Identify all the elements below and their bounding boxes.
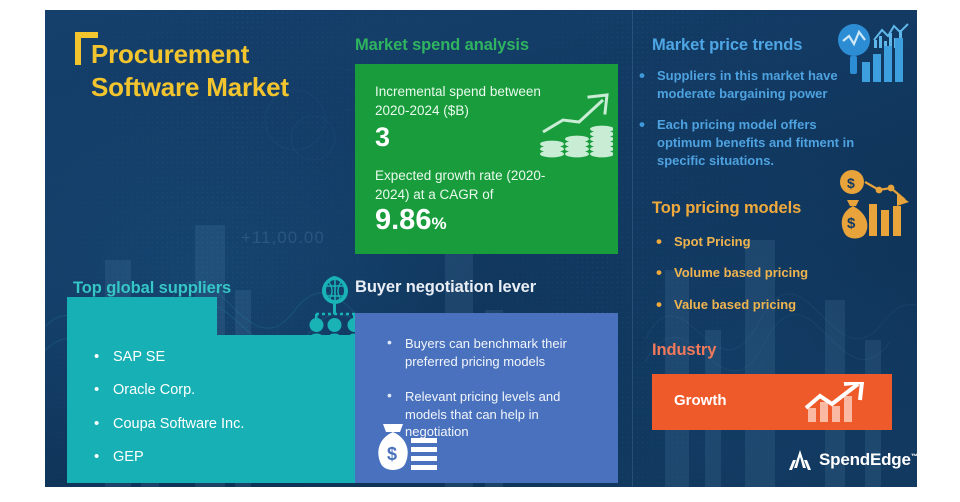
cagr-label: Expected growth rate (2020-2024) at a CA… bbox=[375, 166, 570, 204]
suppliers-heading: Top global suppliers bbox=[73, 279, 231, 298]
list-item: Oracle Corp. bbox=[91, 382, 341, 399]
list-item: Each pricing model offers optimum benefi… bbox=[635, 116, 860, 170]
logo-trademark: ™ bbox=[911, 453, 917, 460]
cagr-percent-sign: % bbox=[431, 214, 446, 233]
list-item: Coupa Software Inc. bbox=[91, 416, 341, 433]
coin-stack-growth-icon bbox=[537, 92, 613, 170]
growth-arrow-chart-icon bbox=[802, 382, 882, 424]
incremental-spend-value: 3 bbox=[375, 122, 390, 153]
suppliers-card: SAP SE Oracle Corp. Coupa Software Inc. … bbox=[67, 335, 356, 483]
pricing-decline-icon: $ $ bbox=[835, 168, 915, 240]
spendedge-logo: SpendEdge™ bbox=[788, 448, 917, 472]
money-bag-icon: $ bbox=[373, 418, 439, 476]
list-item: Buyers can benchmark their preferred pri… bbox=[383, 335, 601, 370]
pricing-heading: Top pricing models bbox=[652, 199, 801, 218]
column-divider bbox=[632, 10, 633, 487]
list-item: Volume based pricing bbox=[652, 265, 867, 281]
trends-heading: Market price trends bbox=[652, 36, 802, 55]
page-title-line1: Procurement bbox=[91, 38, 391, 71]
svg-text:$: $ bbox=[847, 175, 855, 191]
negotiation-card: Buyers can benchmark their preferred pri… bbox=[355, 313, 618, 483]
list-item: GEP bbox=[91, 449, 341, 466]
suppliers-card-pointer bbox=[67, 297, 217, 337]
spend-card: Incremental spend between 2020-2024 ($B)… bbox=[355, 64, 618, 254]
negotiation-heading: Buyer negotiation lever bbox=[355, 278, 536, 297]
status-badge: Growth bbox=[674, 392, 727, 409]
list-item: Suppliers in this market have moderate b… bbox=[635, 67, 860, 103]
pricing-list: Spot Pricing Volume based pricing Value … bbox=[652, 234, 867, 328]
list-item: SAP SE bbox=[91, 349, 341, 366]
list-item: Value based pricing bbox=[652, 297, 867, 313]
cagr-number: 9.86 bbox=[375, 204, 431, 236]
industry-growth-badge: Growth bbox=[652, 374, 892, 430]
logo-wordmark: SpendEdge bbox=[819, 450, 911, 469]
industry-heading: Industry bbox=[652, 341, 716, 360]
suppliers-list: SAP SE Oracle Corp. Coupa Software Inc. … bbox=[91, 349, 341, 483]
svg-text:$: $ bbox=[847, 215, 856, 232]
page-title-line2: Software Market bbox=[91, 71, 391, 104]
infographic-frame: +11,00.00 Procurement Software Market To… bbox=[45, 10, 917, 487]
spendedge-logo-text: SpendEdge™ bbox=[819, 450, 917, 470]
spend-heading: Market spend analysis bbox=[355, 36, 529, 55]
trends-list: Suppliers in this market have moderate b… bbox=[635, 67, 860, 183]
page-title: Procurement Software Market bbox=[91, 38, 391, 104]
cagr-value: 9.86% bbox=[375, 204, 447, 237]
list-item: Spot Pricing bbox=[652, 234, 867, 250]
svg-text:$: $ bbox=[387, 444, 397, 464]
background-watermark-number: +11,00.00 bbox=[241, 228, 325, 248]
spendedge-mark-icon bbox=[788, 448, 812, 472]
